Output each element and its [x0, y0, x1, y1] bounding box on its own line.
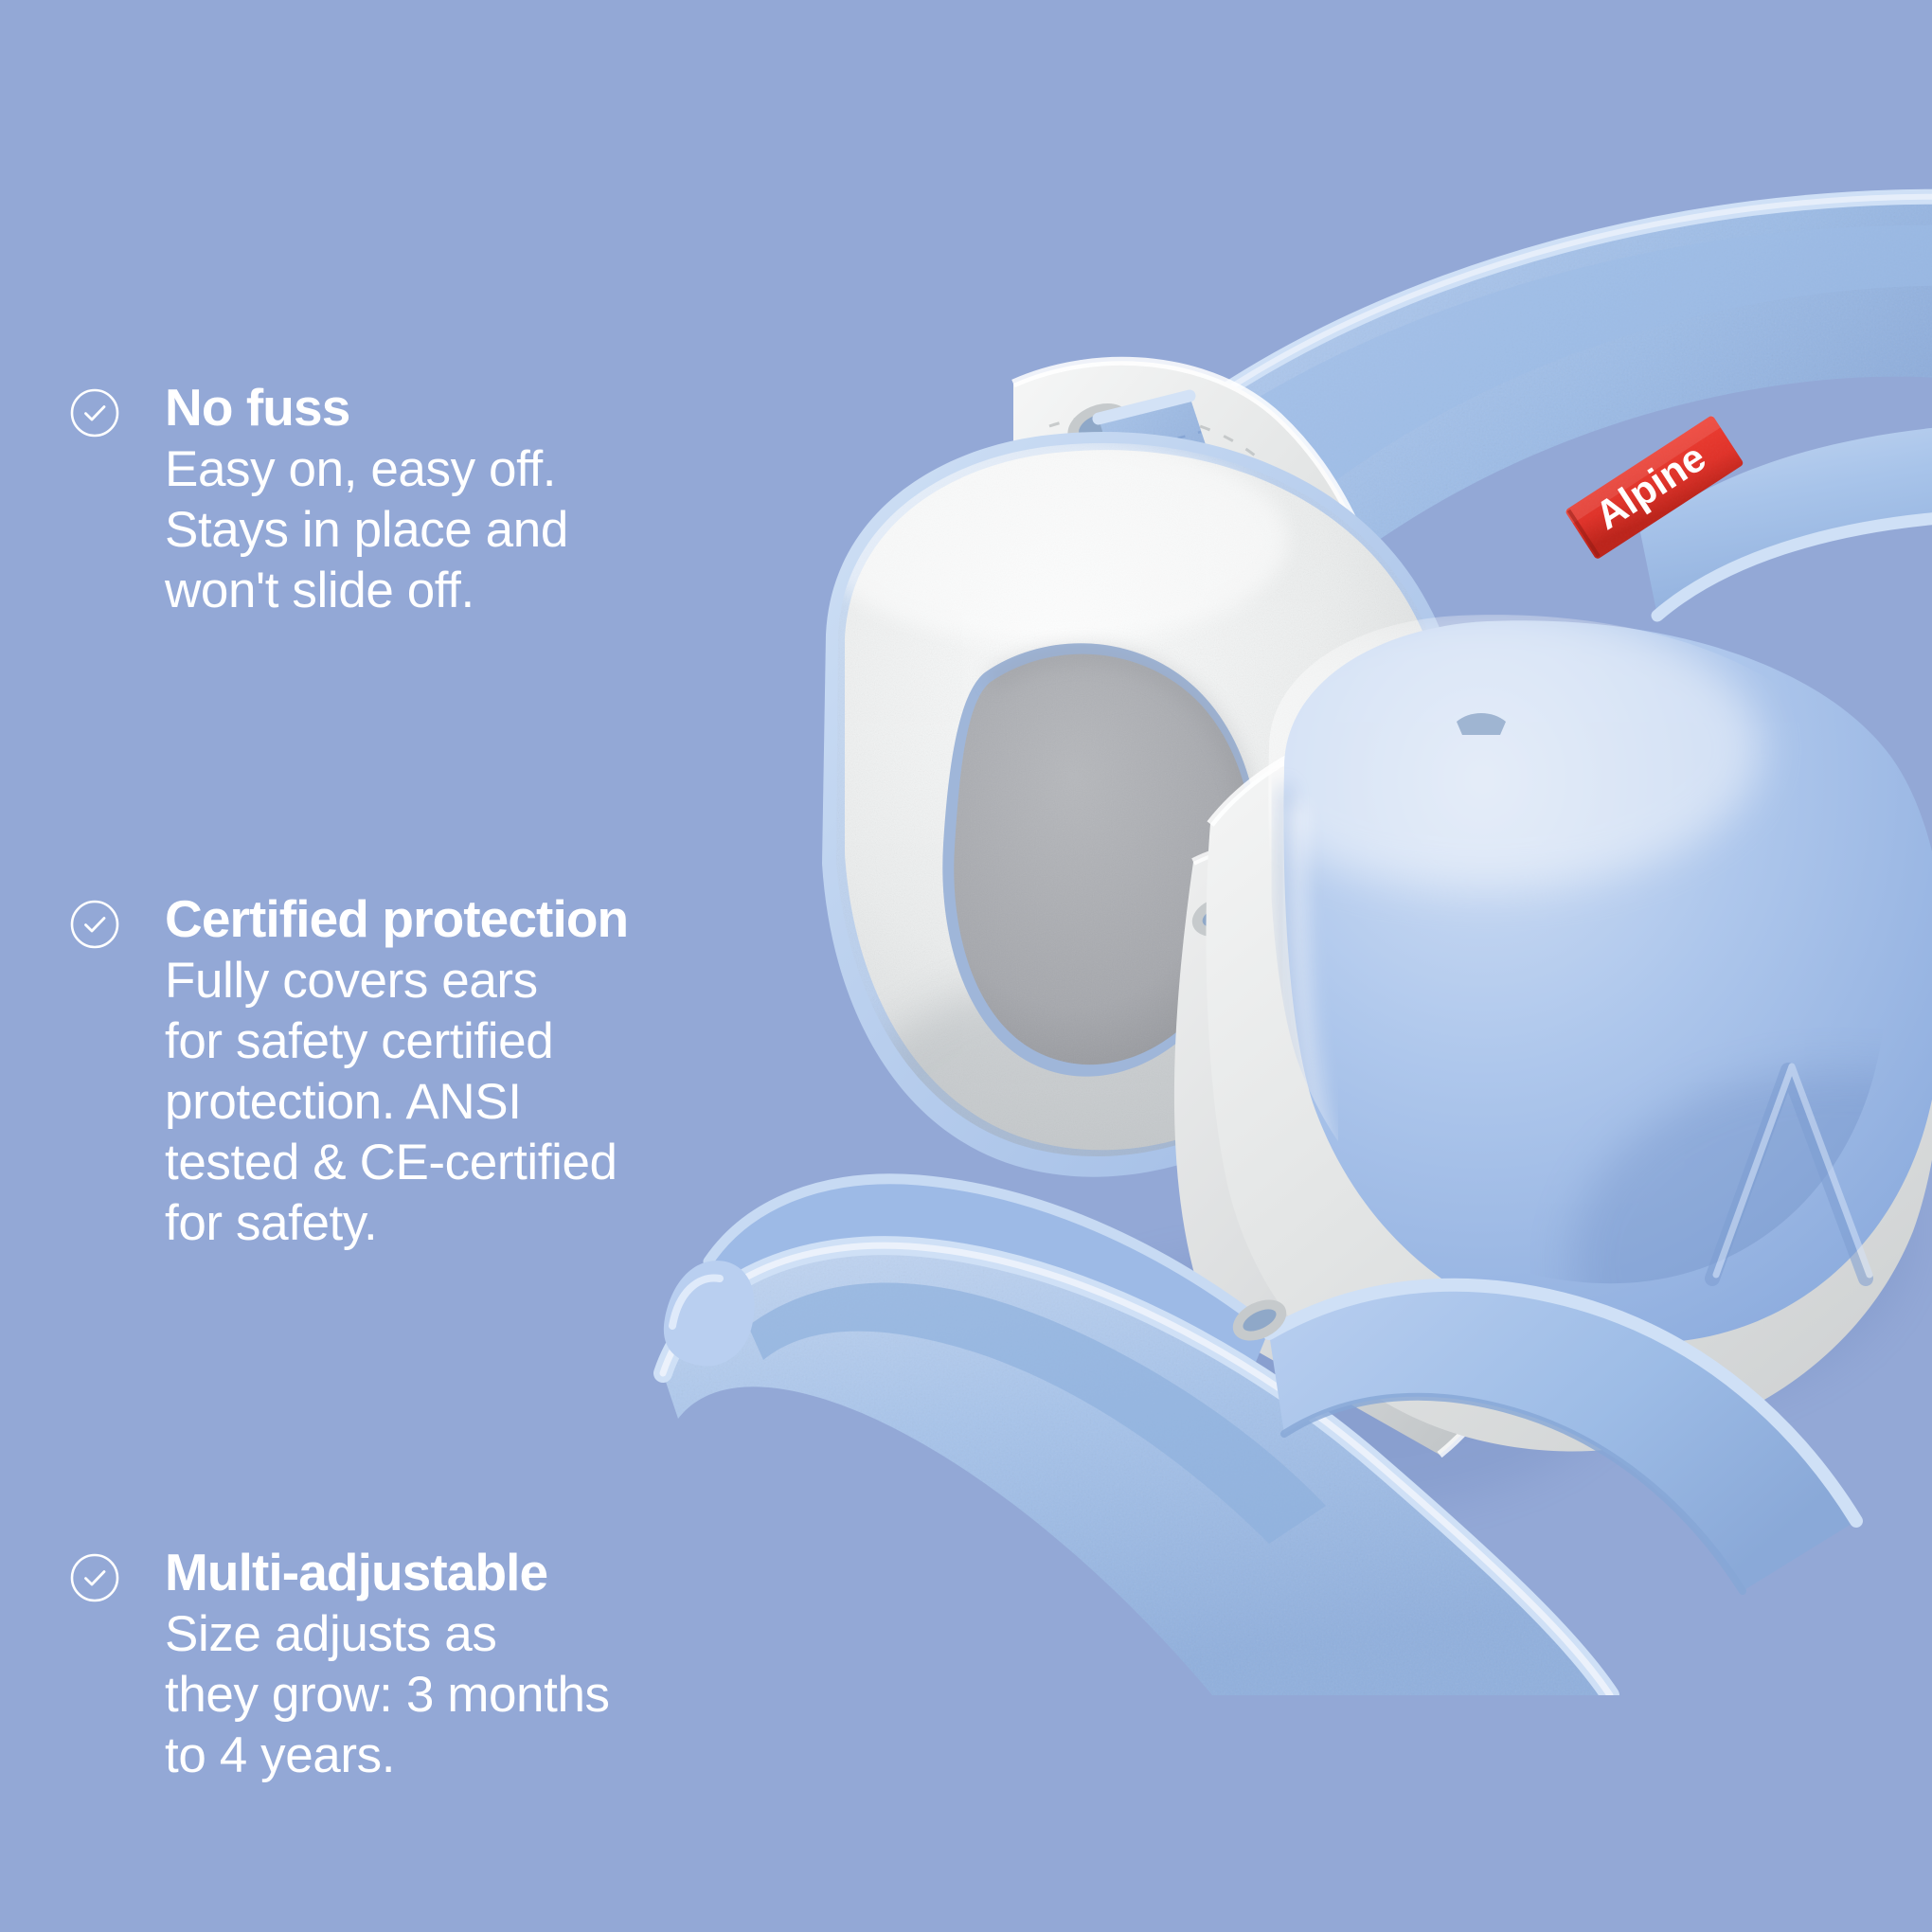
- feature-heading: Certified protection: [165, 890, 628, 947]
- feature-body: Fully covers ears for safety certified p…: [165, 951, 628, 1254]
- feature-item: No fuss Easy on, easy off. Stays in plac…: [68, 379, 568, 621]
- feature-heading: No fuss: [165, 379, 568, 436]
- feature-body: Easy on, easy off. Stays in place and wo…: [165, 439, 568, 621]
- feature-text: No fuss Easy on, easy off. Stays in plac…: [165, 379, 568, 621]
- feature-text: Certified protection Fully covers ears f…: [165, 890, 628, 1254]
- feature-heading: Multi-adjustable: [165, 1544, 610, 1601]
- check-circle-icon: [68, 1551, 121, 1604]
- check-circle-icon: [68, 898, 121, 951]
- product-feature-card: No fuss Easy on, easy off. Stays in plac…: [0, 0, 1932, 1932]
- check-circle-icon: [68, 386, 121, 439]
- product-image: Alpine: [606, 142, 1932, 1695]
- feature-body: Size adjusts as they grow: 3 months to 4…: [165, 1604, 610, 1786]
- feature-item: Multi-adjustable Size adjusts as they gr…: [68, 1544, 610, 1786]
- feature-text: Multi-adjustable Size adjusts as they gr…: [165, 1544, 610, 1786]
- feature-item: Certified protection Fully covers ears f…: [68, 890, 628, 1254]
